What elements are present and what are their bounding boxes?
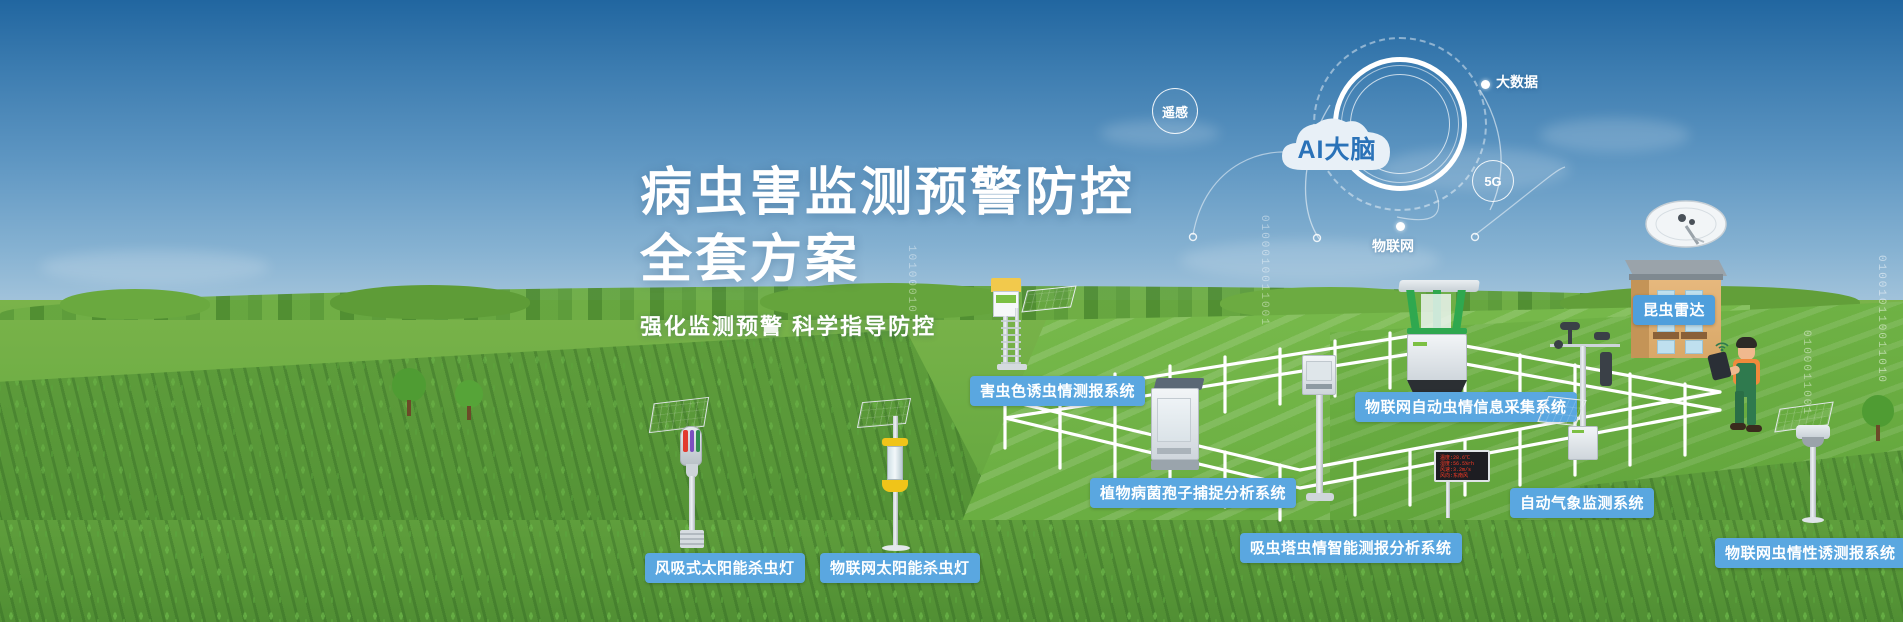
building-window: [1685, 340, 1703, 354]
spore-base: [1151, 460, 1199, 470]
building-window: [1657, 340, 1675, 354]
tower-base: [1306, 493, 1334, 501]
farmer-with-tablet: [1718, 335, 1772, 435]
device-spore-capture[interactable]: [1145, 378, 1211, 478]
device-iot-pheromone-trap[interactable]: [1778, 405, 1856, 535]
chip-wind-solar-lamp[interactable]: 风吸式太阳能杀虫灯: [645, 553, 805, 583]
building-ledge: [1681, 332, 1707, 339]
lamp-base: [680, 530, 704, 548]
device-iot-pest-collector[interactable]: [1395, 280, 1485, 410]
led-line-4: 风向:东南风: [1440, 473, 1484, 479]
trap-base: [1802, 517, 1824, 523]
trap-base: [997, 364, 1027, 370]
device-iot-solar-lamp[interactable]: [860, 400, 940, 555]
field-fence: [0, 0, 1903, 622]
solar-panel: [1021, 286, 1076, 313]
solar-panel: [649, 397, 709, 433]
hero-banner: 病虫害监测预警防控 全套方案 强化监测预警 科学指导防控 10100010 01…: [0, 0, 1903, 622]
trap-pole: [1810, 447, 1816, 519]
satellite-dish-icon: [1642, 198, 1730, 260]
chip-weather-station[interactable]: 自动气象监测系统: [1510, 488, 1654, 518]
device-suction-tower[interactable]: [1290, 355, 1346, 510]
tower-pole: [1316, 395, 1323, 495]
solar-panel: [857, 398, 911, 428]
chip-iot-pheromone[interactable]: 物联网虫情性诱测报系统: [1715, 538, 1903, 568]
lamp-base: [882, 545, 910, 551]
building-ledge: [1653, 332, 1679, 339]
device-wind-solar-lamp[interactable]: [650, 400, 730, 550]
chip-spore-capture[interactable]: 植物病菌孢子捕捉分析系统: [1090, 478, 1296, 508]
led-info-board-assembly[interactable]: 温度:28.6℃ 湿度:56.5%rh 风速:3.2m/s 风向:东南风: [1434, 450, 1504, 520]
chip-insect-radar[interactable]: 昆虫雷达: [1633, 295, 1715, 325]
lamp-pole: [689, 476, 695, 532]
chip-color-trap[interactable]: 害虫色诱虫情测报系统: [970, 376, 1145, 406]
wifi-icon: [1714, 337, 1730, 351]
led-board-pole: [1446, 482, 1450, 518]
device-color-trap[interactable]: [985, 278, 1075, 374]
led-info-board: 温度:28.6℃ 湿度:56.5%rh 风速:3.2m/s 风向:东南风: [1434, 450, 1490, 482]
chip-iot-solar-lamp[interactable]: 物联网太阳能杀虫灯: [820, 553, 980, 583]
chip-suction-tower[interactable]: 吸虫塔虫情智能测报分析系统: [1240, 533, 1462, 563]
